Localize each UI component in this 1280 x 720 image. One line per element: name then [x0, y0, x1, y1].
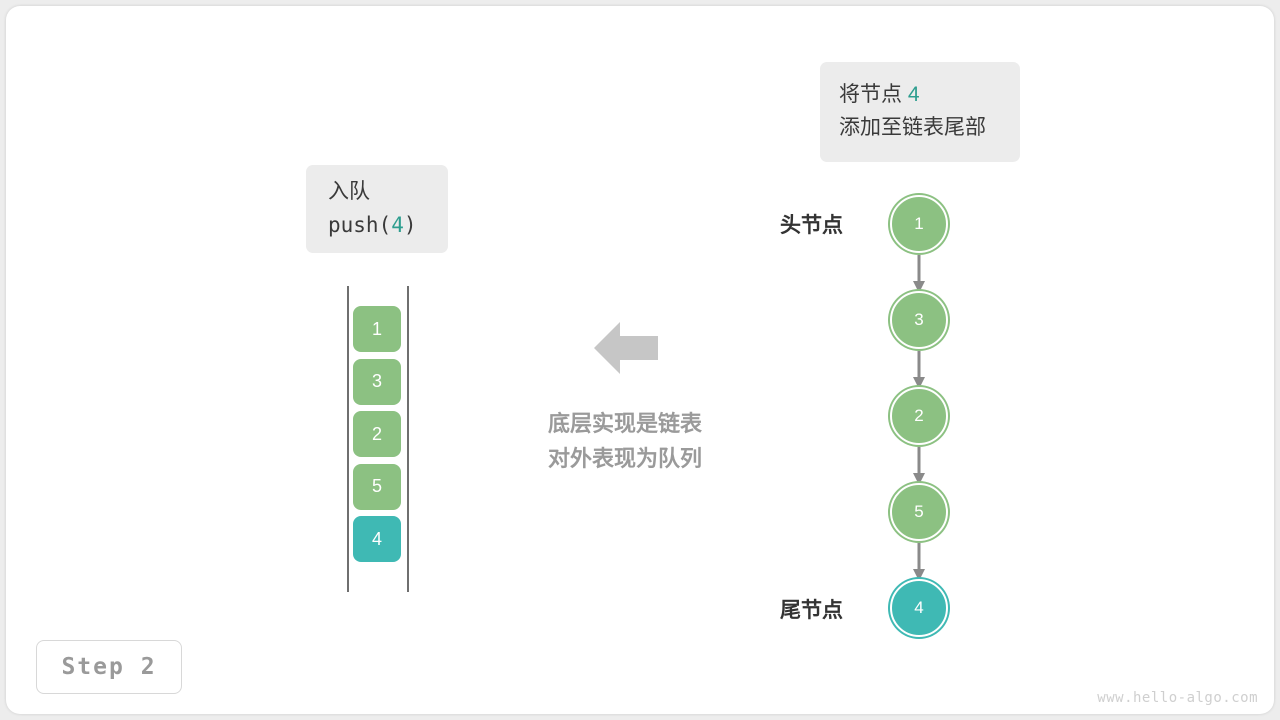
list-node: 5 [890, 483, 948, 541]
list-node: 4 [890, 579, 948, 637]
list-node-value: 5 [914, 502, 923, 522]
queue-cell-value: 4 [372, 529, 382, 550]
list-connector-arrow-icon [912, 543, 926, 583]
push-code-prefix: push( [328, 213, 391, 237]
queue-cell: 1 [353, 306, 401, 352]
queue-rail-right [407, 286, 409, 592]
list-connector-arrow-icon [912, 255, 926, 295]
diagram-canvas: 入队 push(4) 将节点 4 添加至链表尾部 13254 底层实现是链表 对… [0, 0, 1280, 720]
list-node-value: 1 [914, 214, 923, 234]
queue-cell: 4 [353, 516, 401, 562]
push-code-value: 4 [391, 213, 404, 237]
queue-cell-value: 3 [372, 371, 382, 392]
list-connector-arrow-icon [912, 447, 926, 487]
push-code-suffix: ) [404, 213, 417, 237]
append-prefix: 将节点 [839, 83, 908, 106]
queue-cell-value: 1 [372, 319, 382, 340]
callout-append-line2: 添加至链表尾部 [839, 112, 1020, 145]
callout-append-line1: 将节点 4 [839, 79, 1020, 112]
list-node-value: 2 [914, 406, 923, 426]
list-node: 2 [890, 387, 948, 445]
queue-cell-value: 2 [372, 424, 382, 445]
left-arrow-icon [594, 320, 658, 376]
list-node-value: 4 [914, 598, 923, 618]
queue-cell-value: 5 [372, 476, 382, 497]
caption-line2: 对外表现为队列 [512, 441, 738, 476]
list-node: 3 [890, 291, 948, 349]
queue-rail-left [347, 286, 349, 592]
tail-node-label: 尾节点 [780, 594, 843, 624]
watermark: www.hello-algo.com [1097, 690, 1258, 706]
list-node: 1 [890, 195, 948, 253]
callout-push-line1: 入队 [328, 176, 448, 209]
list-connector-arrow-icon [912, 351, 926, 391]
callout-push: 入队 push(4) [306, 165, 448, 253]
queue-cell: 5 [353, 464, 401, 510]
append-value: 4 [908, 83, 920, 106]
caption-text: 底层实现是链表 对外表现为队列 [512, 406, 738, 476]
step-badge: Step 2 [36, 640, 182, 694]
queue-cell: 3 [353, 359, 401, 405]
list-node-value: 3 [914, 310, 923, 330]
callout-append-tail: 将节点 4 添加至链表尾部 [820, 62, 1020, 162]
caption-line1: 底层实现是链表 [512, 406, 738, 441]
head-node-label: 头节点 [780, 209, 843, 239]
queue-cell: 2 [353, 411, 401, 457]
callout-push-code: push(4) [328, 209, 448, 242]
